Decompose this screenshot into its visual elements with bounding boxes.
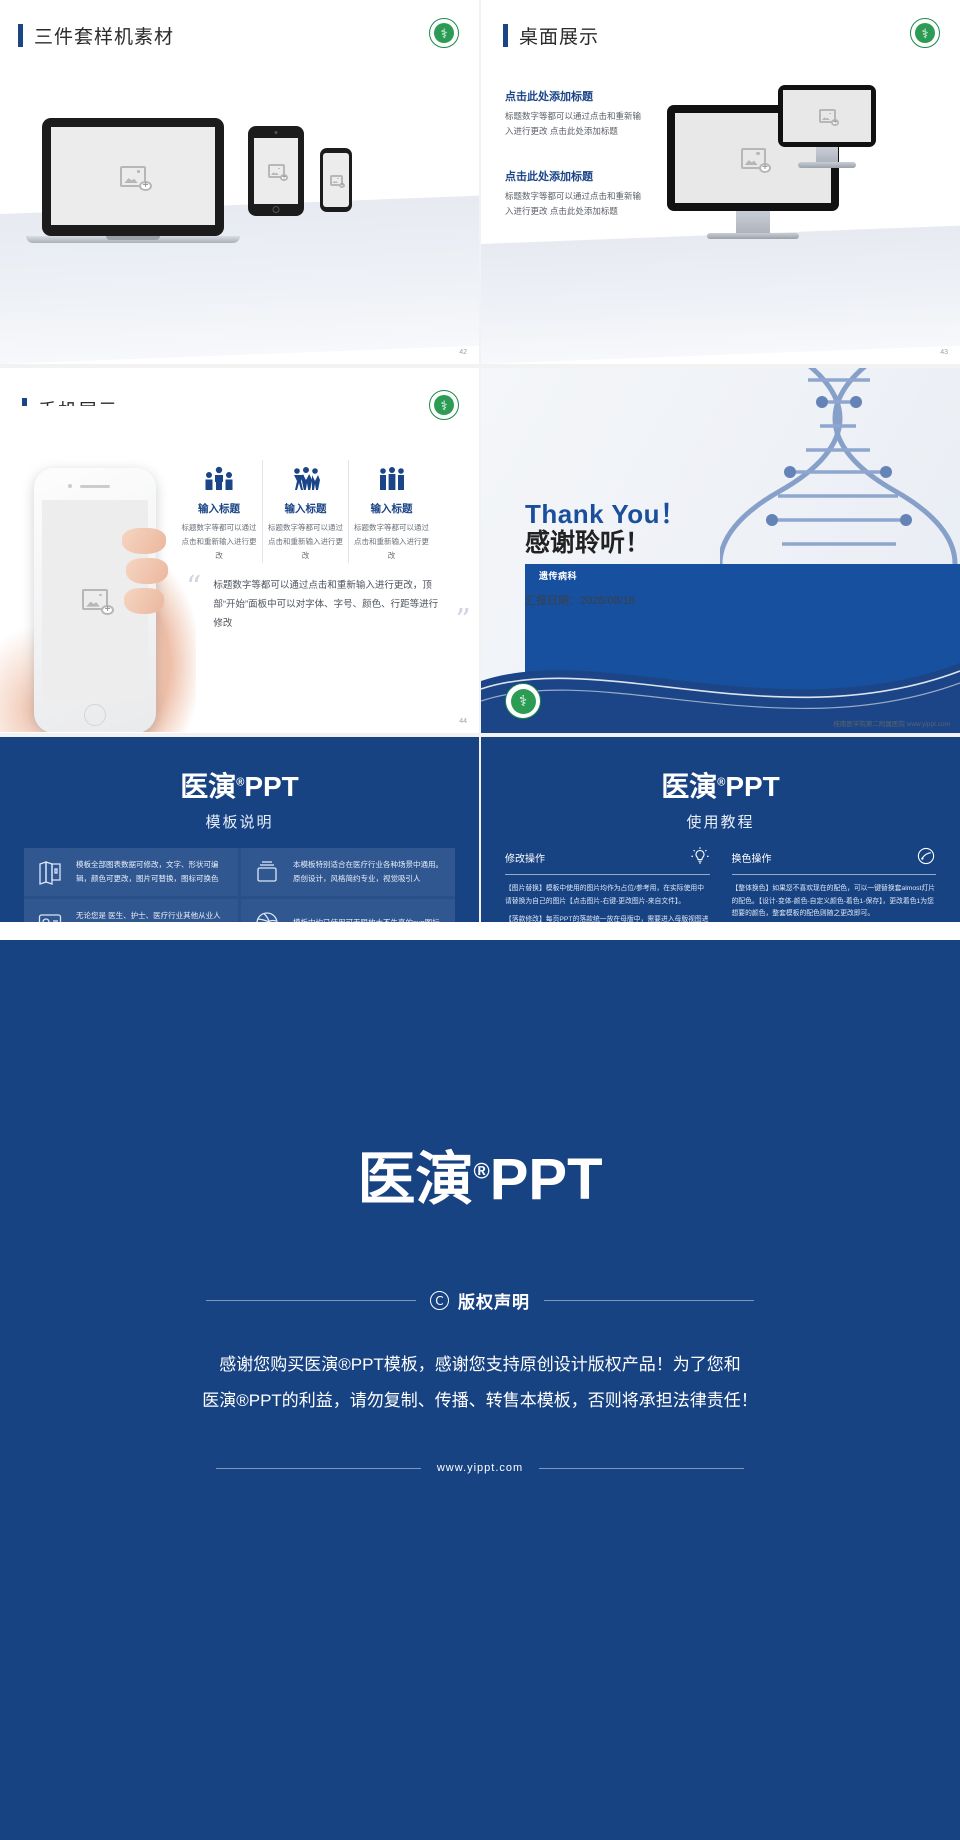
feature-heading: 输入标题 (267, 501, 344, 516)
block-heading: 点击此处添加标题 (505, 88, 645, 104)
block-heading: 点击此处添加标题 (505, 168, 645, 184)
feature-card-text: 模板全部图表数据可修改，文字、形状可编辑，颜色可更改，图片可替换，图标可换色 (76, 858, 228, 886)
image-placeholder-icon: + (120, 166, 146, 187)
team-people-icon (180, 460, 258, 494)
feature-card-text: 本模板特别适合在医疗行业各种场景中通用。原创设计，风格简约专业，视觉吸引人 (293, 858, 445, 886)
brand-name: 医演®PPT (357, 1147, 602, 1212)
feature-body: 标题数字等都可以通过点击和重新输入进行更改 (180, 521, 258, 563)
image-placeholder-icon: + (741, 148, 766, 169)
slides-row-1: 三件套样机素材 ⚕ + (0, 0, 960, 364)
hospital-logo-icon: ⚕ (429, 390, 459, 420)
page-title: 桌面展示 (519, 22, 599, 49)
copyright-icon: C (430, 1291, 449, 1310)
feature-column-2: 输入标题 标题数字等都可以通过点击和重新输入进行更改 (262, 460, 348, 563)
slides-row-2: 手机展示 ⚕ + (0, 368, 960, 733)
quote-text: 标题数字等都可以通过点击和重新输入进行更改，顶部“开始”面板中可以对字体、字号、… (213, 576, 443, 633)
slide-thumb-thankyou[interactable]: BIOSCIENCE Thank You！ 感谢聆听！ 遗传病科 医演PPT 汇… (481, 368, 960, 733)
copyright-badge-text: 版权声明 (458, 1288, 530, 1313)
copyright-footer-row: www.yippt.com (0, 1462, 960, 1474)
three-people-icon (353, 460, 430, 494)
slide1-title-group: 三件套样机素材 (18, 22, 174, 49)
hospital-logo-icon: ⚕ (505, 683, 541, 719)
slide-footer-text: 桂南医学院第二附属医院 www.yippt.com (833, 718, 950, 728)
divider-line-right (539, 1468, 744, 1469)
tablet-home-icon (273, 206, 280, 213)
tutorial-body: 【图片替换】模板中使用的图片均作为占位/参考用，在实际使用中请替换为自己的图片【… (505, 883, 710, 922)
brand-name: 医演®PPT (180, 771, 299, 802)
feature-body: 标题数字等都可以通过点击和重新输入进行更改 (353, 521, 430, 563)
laptop-screen: + (51, 127, 215, 225)
hospital-logo-icon: ⚕ (910, 18, 940, 48)
laptop-base (26, 236, 240, 243)
monitor-screen: + (783, 90, 871, 142)
slide-page-number: 43 (940, 349, 948, 356)
quote-open-icon: “ (186, 576, 201, 600)
copyright-line-1: 感谢您购买医演®PPT模板，感谢您支持原创设计版权产品！为了您和 (0, 1347, 960, 1383)
monitor-mockup-secondary: + (778, 85, 876, 168)
front-camera-icon (68, 484, 72, 488)
copyright-line-2: 医演®PPT的利益，请勿复制、传播、转售本模板，否则将承担法律责任！ (0, 1383, 960, 1419)
page-title: 三件套样机素材 (34, 22, 174, 49)
book-pages-icon (34, 859, 66, 885)
tutorial-heading: 换色操作 (732, 850, 772, 865)
image-placeholder-icon: + (819, 109, 836, 123)
logo-glyph: ⚕ (511, 689, 536, 714)
thankyou-title-cn: 感谢聆听！ (525, 523, 650, 559)
laptop-mockup: + (42, 118, 224, 243)
image-placeholder-icon: + (82, 589, 108, 610)
slide-thumb-mobile[interactable]: 手机展示 ⚕ + (0, 368, 479, 733)
speaker-icon (80, 485, 110, 488)
brand-logo-large: 医演®PPT (0, 940, 960, 1216)
laptop-lid: + (42, 118, 224, 236)
copyright-badge: C 版权声明 (430, 1288, 530, 1313)
tutorial-item: 【整体换色】如果您不喜欢现在的配色，可以一键替换套almost灯片的配色。【设计… (732, 883, 937, 921)
tutorial-heading: 修改操作 (505, 850, 545, 865)
slide-thumb-template-notes[interactable]: 医演®PPT 模板说明 模板全部图表数据可修改，文字、形状可编辑，颜色可更改，图… (0, 737, 479, 922)
phone-mockup: + (320, 148, 352, 212)
monitor-foot (798, 162, 856, 168)
slide-subtitle: 模板说明 (0, 811, 479, 832)
wave-decoration (481, 623, 960, 733)
text-block-1: 点击此处添加标题 标题数字等都可以通过点击和重新输入进行更改 点击此处添加标题 (505, 88, 645, 139)
feature-card-text: 模板中均已使用可无限放大不失真的svg图标 (293, 916, 440, 922)
slide-page-number: 44 (459, 718, 467, 725)
feature-card-grid: 模板全部图表数据可修改，文字、形状可编辑，颜色可更改，图片可替换，图标可换色 本… (24, 848, 455, 922)
text-block-2: 点击此处添加标题 标题数字等都可以通过点击和重新输入进行更改 点击此处添加标题 (505, 168, 645, 219)
feature-card-text: 无论您是 医生、护士、医疗行业其他从业人员，在日常工作中均可以使用这套模板 (76, 909, 228, 922)
block-body: 标题数字等都可以通过点击和重新输入进行更改 点击此处添加标题 (505, 189, 645, 219)
tutorial-column-edit: 修改操作 【图片替换】模板中使用的图片均作为占位/参考用，在实际使用中请替换为自… (505, 846, 710, 922)
feature-heading: 输入标题 (353, 501, 430, 516)
feature-body: 标题数字等都可以通过点击和重新输入进行更改 (267, 521, 344, 563)
lightbulb-icon (690, 846, 710, 869)
tutorial-column-recolor: 换色操作 【整体换色】如果您不喜欢现在的配色，可以一键替换套almost灯片的配… (732, 846, 937, 922)
copyright-statement: 感谢您购买医演®PPT模板，感谢您支持原创设计版权产品！为了您和 医演®PPT的… (0, 1347, 960, 1418)
image-placeholder-icon: + (268, 164, 285, 178)
tutorial-columns: 修改操作 【图片替换】模板中使用的图片均作为占位/参考用，在实际使用中请替换为自… (505, 846, 936, 922)
home-button-icon (84, 704, 106, 726)
group-people-icon (267, 460, 344, 494)
thankyou-background: BIOSCIENCE Thank You！ 感谢聆听！ 遗传病科 医演PPT 汇… (481, 368, 960, 733)
tablet-mockup: + (248, 126, 304, 216)
quote-close-icon: ” (455, 609, 470, 633)
presentation-thumbnail-sheet: 三件套样机素材 ⚕ + (0, 0, 960, 1840)
monitor-foot (707, 233, 799, 239)
hospital-logo-icon: ⚕ (429, 18, 459, 48)
brand-logo: 医演®PPT (0, 765, 479, 805)
tutorial-body: 【整体换色】如果您不喜欢现在的配色，可以一键替换套almost灯片的配色。【设计… (732, 883, 937, 922)
feature-card: 无论您是 医生、护士、医疗行业其他从业人员，在日常工作中均可以使用这套模板 (24, 899, 238, 922)
logo-glyph: ⚕ (434, 395, 454, 415)
slide2-title-group: 桌面展示 (503, 22, 599, 49)
divider-line-left (216, 1468, 421, 1469)
slide-thumb-desktop[interactable]: 桌面展示 ⚕ 点击此处添加标题 标题数字等都可以通过点击和重新输入进行更改 点击… (481, 0, 960, 364)
feature-heading: 输入标题 (180, 501, 258, 516)
logo-glyph: ⚕ (915, 23, 935, 43)
divider-line-left (206, 1300, 416, 1301)
feature-card: 模板中均已使用可无限放大不失真的svg图标 (241, 899, 455, 922)
title-accent-bar (503, 24, 508, 47)
monitor-neck (736, 211, 770, 233)
feature-card: 本模板特别适合在医疗行业各种场景中通用。原创设计，风格简约专业，视觉吸引人 (241, 848, 455, 896)
phone-screen: + (323, 153, 349, 207)
finger-shape (124, 588, 164, 614)
slides-row-3: 医演®PPT 模板说明 模板全部图表数据可修改，文字、形状可编辑，颜色可更改，图… (0, 737, 960, 922)
copyright-divider-row: C 版权声明 (0, 1288, 960, 1313)
hand-holding-phone-photo: + (0, 406, 196, 732)
palette-icon (916, 846, 936, 869)
three-feature-columns: 输入标题 标题数字等都可以通过点击和重新输入进行更改 输入标题 标题数字等都可以… (176, 460, 434, 563)
slide-thumb-devices[interactable]: 三件套样机素材 ⚕ + (0, 0, 479, 364)
finger-shape (122, 528, 166, 554)
slide-page-number: 42 (459, 349, 467, 356)
dribbble-icon (251, 910, 283, 922)
slide-thumb-tutorial[interactable]: 医演®PPT 使用教程 修改操作 (481, 737, 960, 922)
tutorial-item: 【落款修改】每页PPT的落款统一放在母版中，需要进入母版视图进行修改【视图-幻灯… (505, 914, 710, 922)
feature-card: 模板全部图表数据可修改，文字、形状可编辑，颜色可更改，图片可替换，图标可换色 (24, 848, 238, 896)
floor-gradient (481, 226, 960, 364)
tutorial-heading-row: 换色操作 (732, 846, 937, 875)
brand-logo: 医演®PPT (481, 765, 960, 805)
logo-glyph: ⚕ (434, 23, 454, 43)
copyright-slide[interactable]: 医演®PPT C 版权声明 感谢您购买医演®PPT模板，感谢您支持原创设计版权产… (0, 940, 960, 1840)
slide-subtitle: 使用教程 (481, 811, 960, 832)
slides-grid: 三件套样机素材 ⚕ + (0, 0, 960, 922)
tablet-camera-icon (275, 131, 278, 134)
finger-shape (126, 558, 168, 584)
tablet-screen: + (254, 138, 298, 204)
feature-column-1: 输入标题 标题数字等都可以通过点击和重新输入进行更改 (176, 460, 262, 563)
image-placeholder-icon: + (330, 175, 343, 186)
divider-line-right (544, 1300, 754, 1301)
id-card-icon (34, 910, 66, 922)
website-url: www.yippt.com (437, 1462, 523, 1474)
box-icon (251, 859, 283, 885)
monitor-bezel: + (778, 85, 876, 147)
tutorial-item: 【图片替换】模板中使用的图片均作为占位/参考用，在实际使用中请替换为自己的图片【… (505, 883, 710, 908)
block-body: 标题数字等都可以通过点击和重新输入进行更改 点击此处添加标题 (505, 109, 645, 139)
quote-block: “ 标题数字等都可以通过点击和重新输入进行更改，顶部“开始”面板中可以对字体、字… (186, 576, 471, 633)
title-accent-bar (18, 24, 23, 47)
monitor-neck (816, 147, 838, 162)
report-date: 汇报日期：2028/08/18 (525, 592, 635, 608)
brand-name: 医演®PPT (661, 771, 780, 802)
tutorial-heading-row: 修改操作 (505, 846, 710, 875)
feature-column-3: 输入标题 标题数字等都可以通过点击和重新输入进行更改 (348, 460, 434, 563)
